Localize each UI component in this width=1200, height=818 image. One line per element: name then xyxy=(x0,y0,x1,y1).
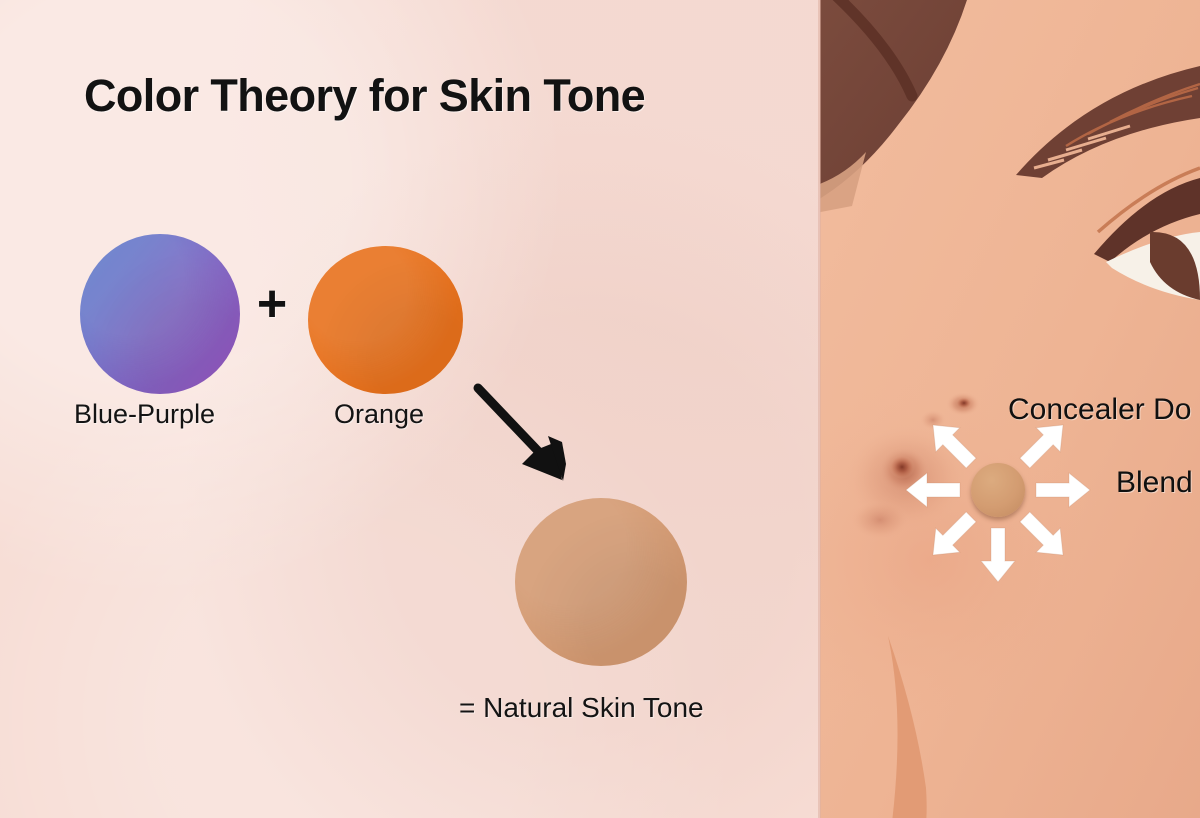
swatch-grain xyxy=(308,246,463,394)
swatch-label-blue-purple: Blue-Purple xyxy=(74,399,215,430)
swatch-blue-purple xyxy=(80,234,240,394)
blend-arrow-east xyxy=(1036,473,1090,507)
swatch-grain xyxy=(80,234,240,394)
label-blend-outward: Blend xyxy=(1116,466,1193,500)
swatch-grain xyxy=(515,498,687,666)
page-title: Color Theory for Skin Tone xyxy=(84,70,645,122)
swatch-natural-skin-tone xyxy=(515,498,687,666)
blend-arrow-northwest xyxy=(921,505,983,567)
infographic-canvas: Color Theory for Skin Tone Blue-Purple +… xyxy=(0,0,1200,818)
color-theory-panel: Color Theory for Skin Tone Blue-Purple +… xyxy=(0,0,820,818)
panel-divider xyxy=(818,0,821,818)
blend-arrow-south xyxy=(981,528,1015,582)
label-concealer-dot: Concealer Do xyxy=(1008,393,1191,427)
blend-arrow-west xyxy=(906,473,960,507)
swatch-orange xyxy=(308,246,463,394)
result-arrow-icon xyxy=(470,380,600,510)
blend-arrow-southwest xyxy=(921,413,983,475)
swatch-label-natural-skin-tone: = Natural Skin Tone xyxy=(459,692,704,724)
plus-icon: + xyxy=(250,282,294,326)
swatch-label-orange: Orange xyxy=(334,399,424,430)
blend-arrow-southeast xyxy=(1013,505,1075,567)
face-application-panel: Concealer Do Blend xyxy=(820,0,1200,818)
